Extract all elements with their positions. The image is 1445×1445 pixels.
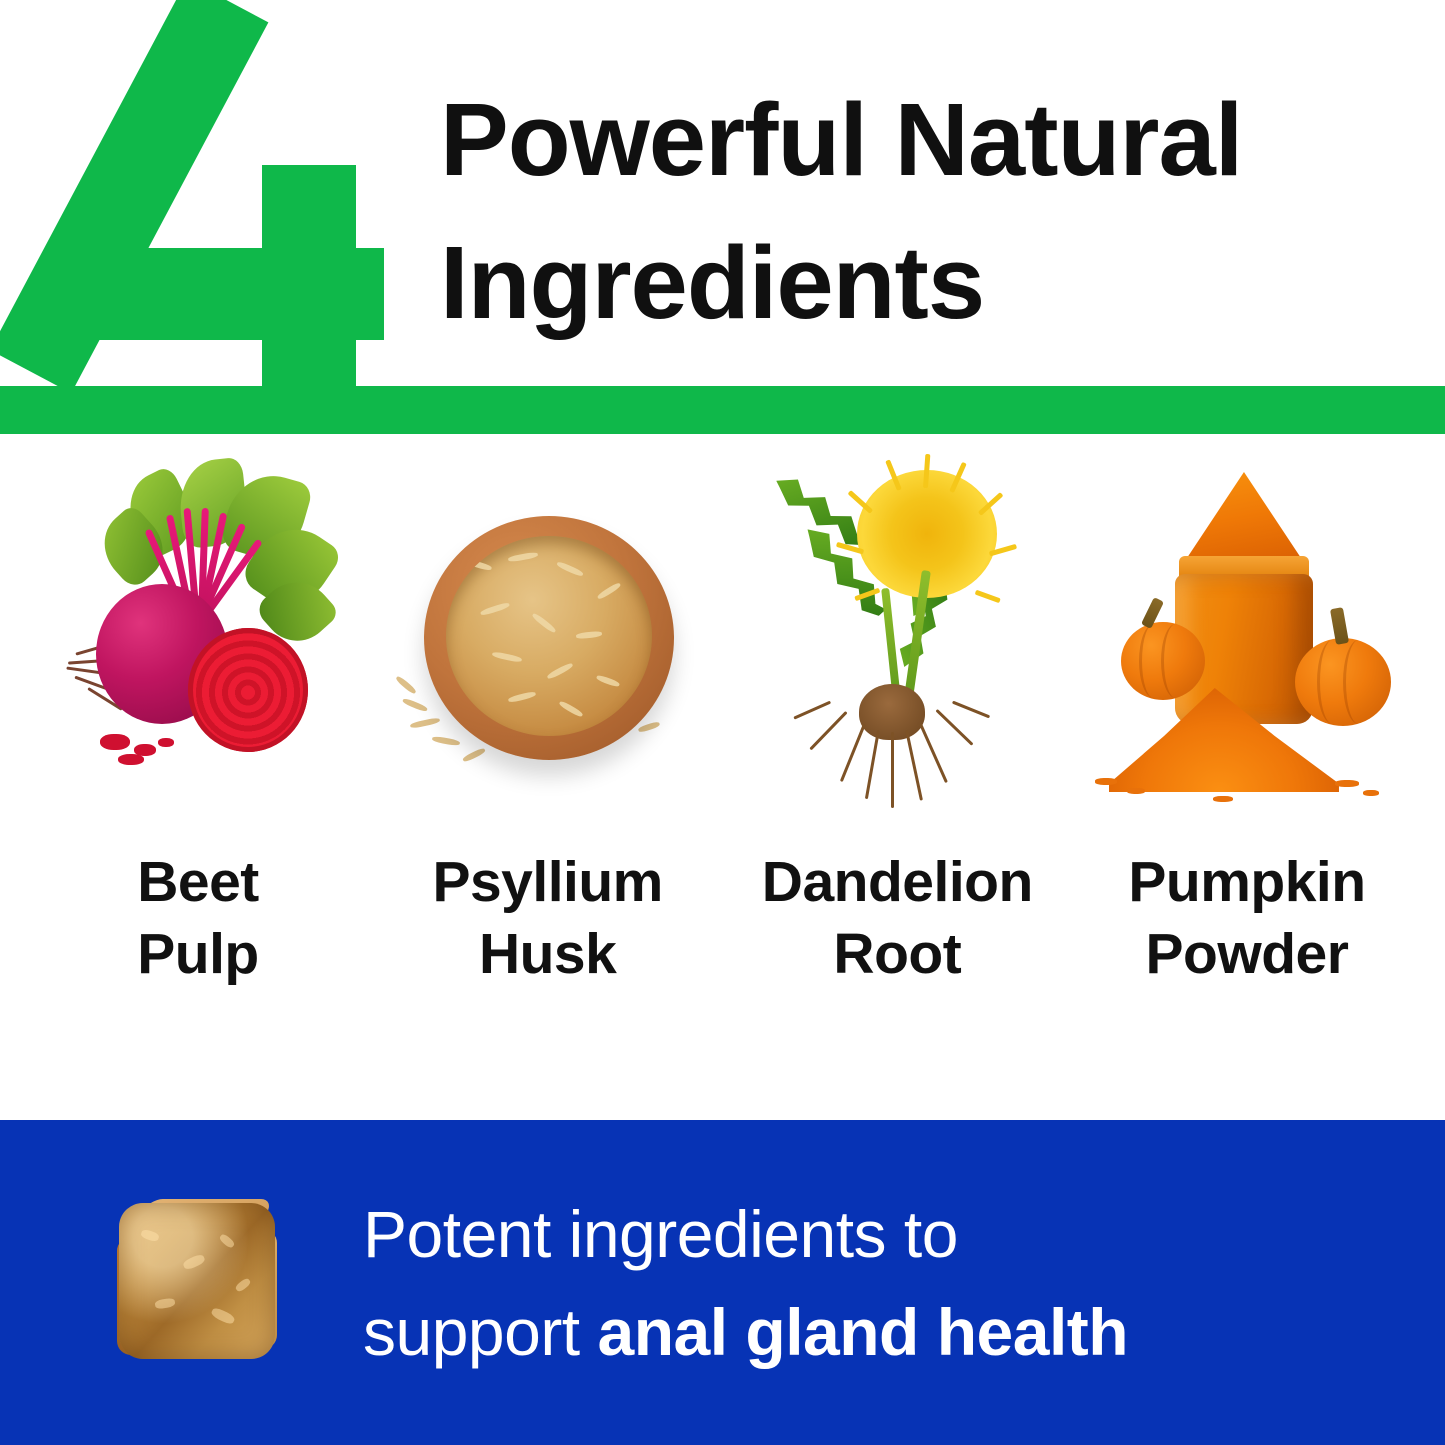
pumpkin-rib [1343,640,1374,724]
ingredient-cell-beet-pulp: Beet Pulp [28,452,368,1052]
beet-cut-half [188,628,308,752]
ingredient-label-line-2: Powder [1128,918,1365,990]
husk-grain [507,691,536,704]
numeral-four-graphic [0,0,430,435]
chew-texture-fleck [154,1297,175,1309]
dandelion-root-fiber [810,711,848,750]
chew-texture-fleck [218,1232,235,1248]
husk-spill-grain [401,697,427,712]
dandelion-root-fiber [891,732,894,808]
wooden-bowl [424,516,674,760]
husk-spill-grain [462,747,486,763]
dandelion-root-fiber [952,701,990,719]
powder-scatter [1363,790,1379,796]
chew-front-face [119,1203,275,1359]
husk-grain [596,582,621,601]
powder-scatter [1127,788,1145,794]
chew-texture-fleck [210,1306,236,1326]
ingredient-cell-dandelion-root: Dandelion Root [727,452,1067,1052]
ingredient-label-dandelion-root: Dandelion Root [762,846,1033,990]
ingredient-label-line-1: Dandelion [762,846,1033,918]
numeral-four-stem [262,165,356,395]
husk-fill [446,536,652,736]
powder-scatter [1335,780,1359,787]
ingredient-cell-pumpkin-powder: Pumpkin Powder [1077,452,1417,1052]
page-title-line-2: Ingredients [440,211,1400,354]
page-title-line-1: Powerful Natural [440,68,1400,211]
husk-grain [465,559,492,572]
husk-spill-grain [637,721,660,734]
husk-grain [479,602,509,617]
ingredient-label-line-2: Pulp [137,918,259,990]
dandelion-plant-photo [737,452,1057,824]
beet-powder-crumb [118,754,144,765]
beet-powder-crumb [100,734,130,750]
powder-scatter [1095,778,1117,785]
banner-claim-line-2-bold: anal gland health [597,1295,1128,1369]
husk-grain [546,662,574,680]
chew-texture-fleck [182,1252,206,1270]
ingredient-label-line-2: Husk [432,918,662,990]
dandelion-root-fiber [840,723,866,782]
ingredient-label-line-2: Root [762,918,1033,990]
dandelion-root-fiber [919,723,948,783]
banner-claim-text: Potent ingredients to support anal gland… [363,1185,1128,1381]
ingredient-label-line-1: Beet [137,846,259,918]
dandelion-root-fiber [865,730,880,799]
husk-grain [507,551,538,562]
dandelion-root-fiber [794,701,832,720]
ingredient-label-line-1: Pumpkin [1128,846,1365,918]
ingredient-label-beet-pulp: Beet Pulp [137,846,259,990]
green-divider-bar [0,386,1445,434]
header-section: Powerful Natural Ingredients [0,0,1445,435]
pumpkin-powder-jar-photo [1087,452,1407,824]
ingredient-label-pumpkin-powder: Pumpkin Powder [1128,846,1365,990]
husk-grain [556,561,584,578]
banner-claim-line-2-regular: support [363,1295,597,1369]
husk-grain [558,700,584,718]
powder-scatter [1213,796,1233,802]
husk-grain [575,631,601,640]
husk-spill-grain [409,717,440,729]
dandelion-root-fiber [936,709,974,746]
soft-chew-cube-photo [105,1193,305,1373]
beet-powder-crumb [158,738,174,747]
bottom-claim-banner: Potent ingredients to support anal gland… [0,1120,1445,1445]
banner-claim-line-1: Potent ingredients to [363,1185,1128,1283]
ingredient-cell-psyllium-husk: Psyllium Husk [378,452,718,1052]
psyllium-husk-bowl-photo [388,452,708,824]
husk-grain [531,612,557,634]
husk-spill-grain [395,675,417,695]
ingredient-label-line-1: Psyllium [432,846,662,918]
powder-mound-on-jar [1183,472,1305,564]
dandelion-petal [975,590,1001,604]
beet-photo [38,452,358,824]
banner-claim-line-2: support anal gland health [363,1283,1128,1381]
husk-grain [595,674,620,688]
ingredient-label-psyllium-husk: Psyllium Husk [432,846,662,990]
infographic-page: Powerful Natural Ingredients [0,0,1445,1445]
husk-spill-grain [431,736,460,747]
husk-grain [491,651,522,663]
pumpkin-rib [1161,624,1190,698]
dandelion-root-fiber [905,730,923,801]
page-title: Powerful Natural Ingredients [440,68,1400,354]
ingredient-grid: Beet Pulp [0,452,1445,1052]
chew-texture-fleck [234,1276,252,1292]
chew-texture-fleck [140,1228,160,1242]
